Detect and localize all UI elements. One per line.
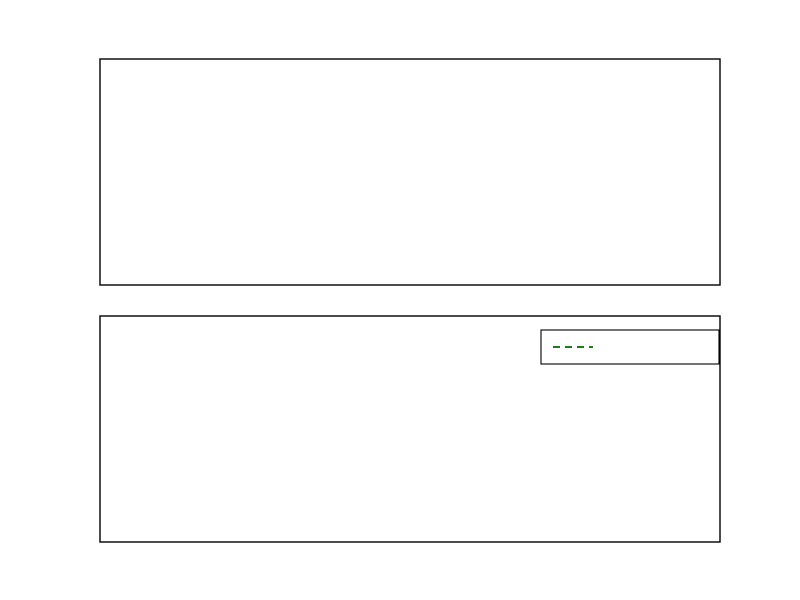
matplotlib-figure bbox=[0, 0, 800, 600]
top-axes-differential-histogram bbox=[100, 59, 720, 285]
figure-canvas bbox=[0, 0, 800, 600]
legend[interactable] bbox=[541, 330, 719, 364]
top-plot-background bbox=[100, 59, 720, 285]
